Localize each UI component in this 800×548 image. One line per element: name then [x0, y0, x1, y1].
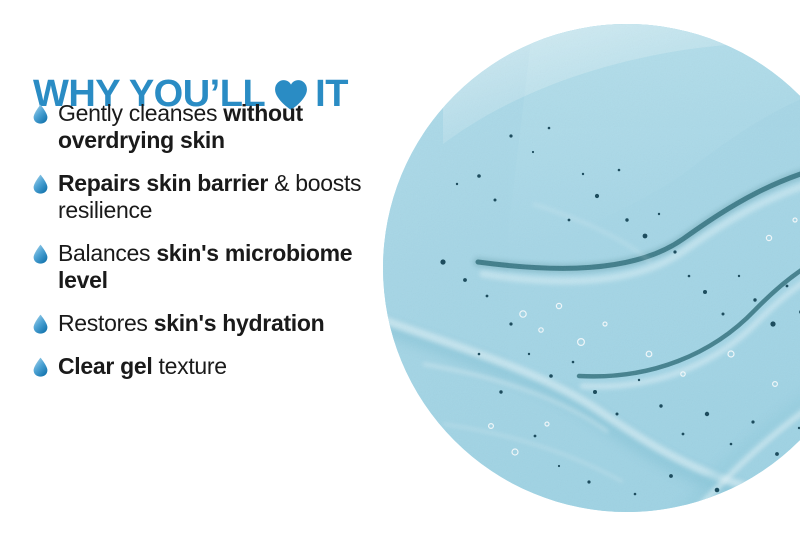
benefits-list: Gently cleanses without overdrying skinR…	[0, 100, 383, 380]
benefit-text: Repairs skin barrier & boosts resilience	[58, 170, 361, 223]
benefit-item: Clear gel texture	[0, 353, 383, 380]
promo-banner: WHY YOU’LL IT Gently cleanses without ov…	[0, 0, 800, 548]
benefit-item: Repairs skin barrier & boosts resilience	[0, 170, 383, 224]
water-drop-icon	[33, 243, 48, 263]
benefit-item: Restores skin's hydration	[0, 310, 383, 337]
benefit-text: Clear gel texture	[58, 353, 227, 379]
benefit-text: Gently cleanses without overdrying skin	[58, 100, 303, 153]
water-drop-icon	[33, 173, 48, 193]
benefit-text: Restores skin's hydration	[58, 310, 324, 336]
water-drop-icon	[33, 313, 48, 333]
benefits-panel: WHY YOU’LL IT Gently cleanses without ov…	[0, 0, 383, 548]
benefit-item: Gently cleanses without overdrying skin	[0, 100, 383, 154]
benefit-item: Balances skin's microbiome level	[0, 240, 383, 294]
water-drop-icon	[33, 356, 48, 376]
benefit-text: Balances skin's microbiome level	[58, 240, 352, 293]
water-drop-icon	[33, 103, 48, 123]
gel-texture-image	[383, 24, 800, 512]
gel-texture-illustration	[383, 24, 800, 512]
